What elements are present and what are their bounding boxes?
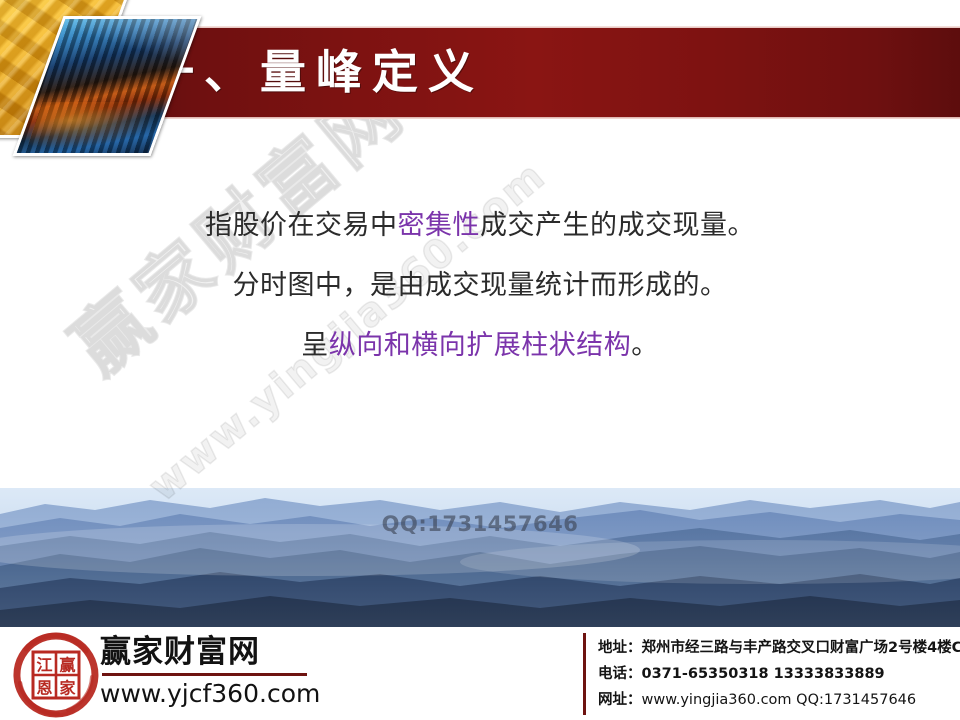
brand-block: 赢家财富网 www.yjcf360.com — [100, 633, 330, 709]
contact-address-line: 地址：郑州市经三路与丰产路交叉口财富广场2号楼4楼C户 — [598, 635, 958, 661]
seal-char-3: 恩 — [36, 679, 52, 698]
contact-info-block: 地址：郑州市经三路与丰产路交叉口财富广场2号楼4楼C户 电话：0371-6535… — [598, 635, 958, 713]
company-seal-logo-icon: 江 赢 恩 家 — [12, 631, 100, 719]
brand-website-url[interactable]: www.yjcf360.com — [100, 679, 330, 709]
body-line-1-part-b: 成交产生的成交现量。 — [480, 210, 755, 241]
mountain-ridges-graphic — [0, 488, 960, 627]
body-line-3: 呈纵向和横向扩展柱状结构。 — [0, 316, 960, 376]
contact-address-value: 郑州市经三路与丰产路交叉口财富广场2号楼4楼C户 — [642, 640, 960, 656]
contact-web-value[interactable]: www.yingjia360.com QQ:1731457646 — [642, 692, 917, 708]
brand-name-cn: 赢家财富网 — [100, 633, 330, 671]
qq-watermark-overlay: QQ:1731457646 — [0, 512, 960, 536]
body-line-3-part-b: 。 — [631, 330, 659, 361]
header-photo-collage — [0, 0, 190, 165]
seal-char-4: 家 — [59, 679, 76, 698]
body-line-1: 指股价在交易中密集性成交产生的成交现量。 — [0, 196, 960, 256]
slide-canvas: 一、量峰定义 赢家财富网 www.yingjia360.com 指股价在交易中密… — [0, 0, 960, 720]
contact-address-label: 地址： — [598, 640, 642, 656]
footer-vertical-divider — [583, 633, 586, 715]
body-text-block: 指股价在交易中密集性成交产生的成交现量。 分时图中，是由成交现量统计而形成的。 … — [0, 196, 960, 376]
contact-phone-value: 0371-65350318 13333833889 — [642, 666, 885, 682]
mountain-landscape-image — [0, 488, 960, 627]
body-line-2-text: 分时图中，是由成交现量统计而形成的。 — [233, 270, 728, 301]
body-line-3-emphasis: 纵向和横向扩展柱状结构 — [329, 330, 632, 361]
contact-web-label: 网址： — [598, 692, 642, 708]
body-line-2: 分时图中，是由成交现量统计而形成的。 — [0, 256, 960, 316]
body-line-1-part-a: 指股价在交易中 — [205, 210, 398, 241]
footer-bar: 江 赢 恩 家 赢家财富网 www.yjcf360.com 地址：郑州市经三路与… — [0, 627, 960, 720]
contact-phone-label: 电话： — [598, 666, 642, 682]
body-line-3-part-a: 呈 — [301, 330, 329, 361]
seal-char-2: 赢 — [59, 656, 75, 675]
page-title: 一、量峰定义 — [148, 36, 484, 108]
brand-underline-rule — [102, 673, 307, 676]
body-line-1-emphasis: 密集性 — [398, 210, 481, 241]
contact-phone-line: 电话：0371-65350318 13333833889 — [598, 661, 958, 687]
seal-char-1: 江 — [36, 656, 52, 675]
contact-web-line: 网址：www.yingjia360.com QQ:1731457646 — [598, 687, 958, 713]
